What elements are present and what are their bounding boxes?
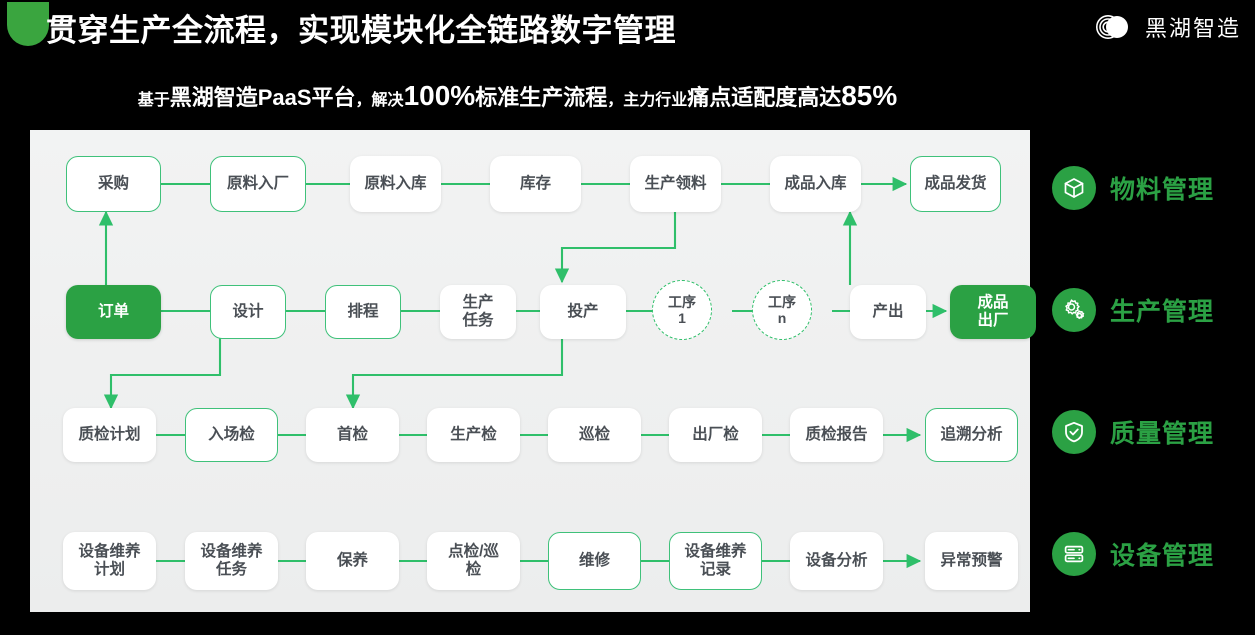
- node-line-1: 设备维养: [78, 543, 140, 560]
- rail-label-quality: 质量管理: [1110, 414, 1214, 450]
- node-line-2: 检: [466, 561, 482, 578]
- subtitle-part-7: 痛点适配度高达: [687, 85, 841, 110]
- node-zhijianjihua[interactable]: 质检计划: [63, 408, 156, 462]
- node-shoujian[interactable]: 首检: [306, 408, 399, 462]
- node-shebeiweiyangrenwu[interactable]: 设备维养 任务: [185, 532, 278, 590]
- node-line-2: 1: [678, 310, 686, 326]
- rail-label-production: 生产管理: [1110, 292, 1214, 328]
- header-accent-shape: [7, 2, 49, 46]
- node-line-1: 工序: [668, 294, 696, 310]
- node-line-1: 生产: [462, 294, 493, 311]
- node-chengpinchuchang[interactable]: 成品 出厂: [950, 285, 1036, 339]
- node-zhijianbaogao[interactable]: 质检报告: [790, 408, 883, 462]
- slide-root: 贯穿生产全流程，实现模块化全链路数字管理 黑湖智造 基于黑湖智造PaaS平台，解…: [0, 0, 1255, 635]
- node-line-2: 任务: [462, 312, 493, 329]
- subtitle-part-2: 黑湖智造PaaS平台: [170, 85, 356, 110]
- concentric-circles-logo-icon: [1093, 11, 1133, 43]
- brand-name: 黑湖智造: [1145, 11, 1241, 43]
- node-shebeiweiyangjilu[interactable]: 设备维养 记录: [669, 532, 762, 590]
- node-dianjianxunjian[interactable]: 点检/巡 检: [427, 532, 520, 590]
- node-yichangyujing[interactable]: 异常预警: [925, 532, 1018, 590]
- node-ruchangjian[interactable]: 入场检: [185, 408, 278, 462]
- node-shengchanjian[interactable]: 生产检: [427, 408, 520, 462]
- node-zhuisufenxi[interactable]: 追溯分析: [925, 408, 1018, 462]
- rail-item-material[interactable]: 物料管理: [1052, 166, 1214, 210]
- flow-diagram-panel: 采购 原料入厂 原料入库 库存 生产领料 成品入库 成品发货 订单 设计 排程 …: [30, 130, 1030, 612]
- subtitle-part-5: 标准生产流程: [475, 85, 607, 110]
- node-line-2: 任务: [216, 561, 247, 578]
- node-xunjian[interactable]: 巡检: [548, 408, 641, 462]
- node-yuanliaoruku[interactable]: 原料入库: [350, 156, 441, 212]
- node-caigou[interactable]: 采购: [66, 156, 161, 212]
- node-touchan[interactable]: 投产: [540, 285, 626, 339]
- node-line-2: 计划: [94, 561, 125, 578]
- box-icon: [1052, 166, 1096, 210]
- node-line-1: 成品: [977, 294, 1008, 311]
- node-kucun[interactable]: 库存: [490, 156, 581, 212]
- node-paicheng[interactable]: 排程: [325, 285, 401, 339]
- server-icon: [1052, 532, 1096, 576]
- node-sheji[interactable]: 设计: [210, 285, 286, 339]
- subtitle-part-8: 85%: [841, 80, 897, 111]
- node-shebeiweiyangjihua[interactable]: 设备维养 计划: [63, 532, 156, 590]
- node-weixiu[interactable]: 维修: [548, 532, 641, 590]
- subtitle-part-6: ，主力行业: [607, 92, 687, 109]
- node-yuanliaoruchang[interactable]: 原料入厂: [210, 156, 306, 212]
- node-line-2: 出厂: [977, 312, 1008, 329]
- node-chuchangjian[interactable]: 出厂检: [669, 408, 762, 462]
- rail-item-production[interactable]: 生产管理: [1052, 288, 1214, 332]
- node-chengpinruku[interactable]: 成品入库: [770, 156, 861, 212]
- node-line-1: 设备维养: [684, 543, 746, 560]
- rail-item-quality[interactable]: 质量管理: [1052, 410, 1214, 454]
- node-shebeifenxi[interactable]: 设备分析: [790, 532, 883, 590]
- node-dingdan[interactable]: 订单: [66, 285, 161, 339]
- node-chengpinfahuo[interactable]: 成品发货: [910, 156, 1001, 212]
- node-gongxu-1[interactable]: 工序 1: [652, 280, 712, 340]
- node-line-1: 工序: [768, 294, 796, 310]
- subtitle: 基于黑湖智造PaaS平台，解决100%标准生产流程，主力行业痛点适配度高达85%: [0, 80, 1035, 112]
- brand-logo: 黑湖智造: [1093, 11, 1241, 43]
- node-gongxu-n[interactable]: 工序 n: [752, 280, 812, 340]
- subtitle-part-4: 100%: [404, 80, 476, 111]
- node-line-2: 记录: [700, 561, 731, 578]
- node-line-1: 设备维养: [200, 543, 262, 560]
- node-baoyang[interactable]: 保养: [306, 532, 399, 590]
- node-shengchanrenwu[interactable]: 生产 任务: [440, 285, 516, 339]
- header-bar: 贯穿生产全流程，实现模块化全链路数字管理 黑湖智造: [0, 0, 1255, 60]
- gears-icon: [1052, 288, 1096, 332]
- node-line-1: 点检/巡: [448, 543, 499, 560]
- shield-check-icon: [1052, 410, 1096, 454]
- rail-item-equipment[interactable]: 设备管理: [1052, 532, 1214, 576]
- node-shengchanlingliao[interactable]: 生产领料: [630, 156, 721, 212]
- page-title: 贯穿生产全流程，实现模块化全链路数字管理: [46, 5, 676, 50]
- node-chuchu[interactable]: 产出: [850, 285, 926, 339]
- subtitle-part-1: 基于: [138, 92, 170, 109]
- node-line-2: n: [778, 310, 787, 326]
- rail-label-material: 物料管理: [1110, 170, 1214, 206]
- rail-label-equipment: 设备管理: [1110, 536, 1214, 572]
- subtitle-part-3: ，解决: [356, 92, 404, 109]
